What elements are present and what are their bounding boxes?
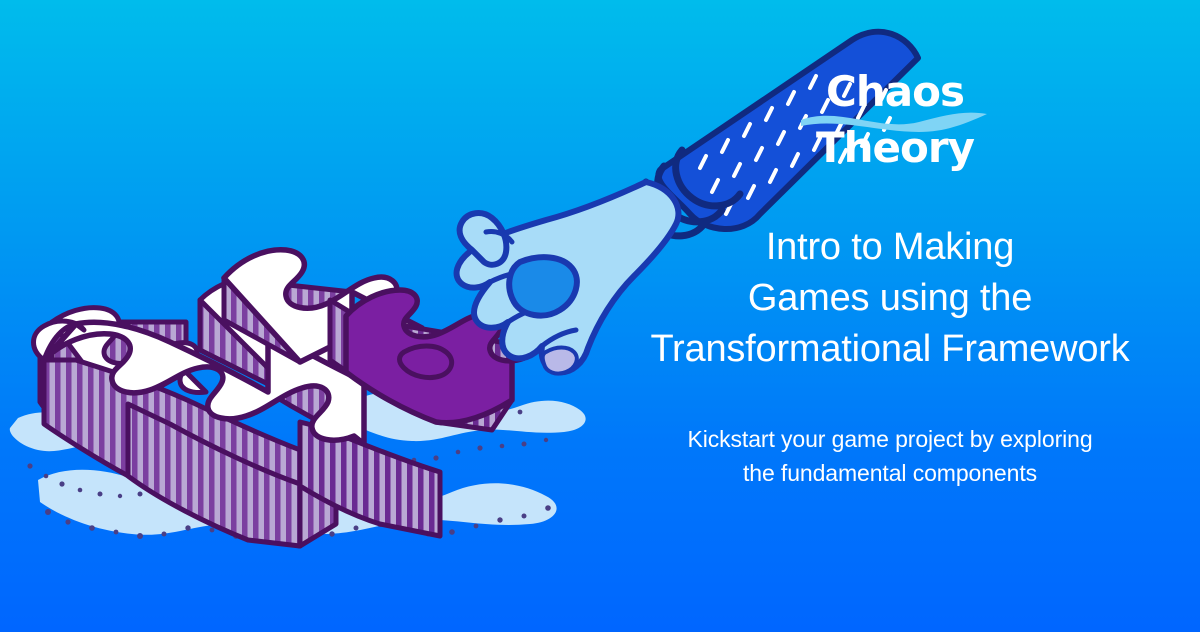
promo-banner: Chaos Theory Intro to Making Games using… xyxy=(0,0,1200,632)
illustration-canvas xyxy=(0,0,1200,632)
robot-arm xyxy=(457,32,918,374)
